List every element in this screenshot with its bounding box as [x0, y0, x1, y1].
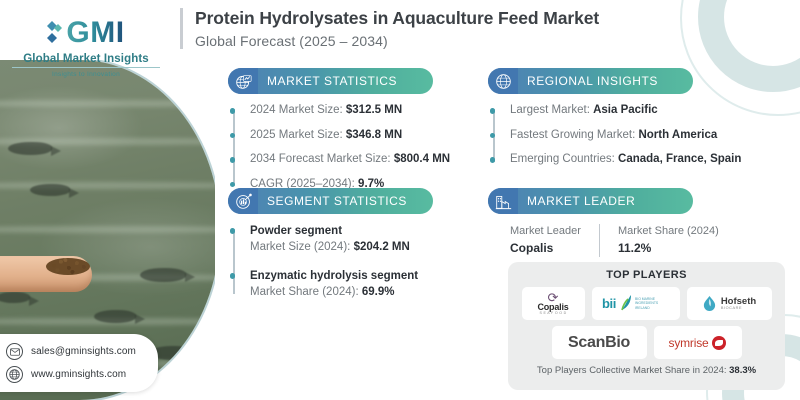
player-logo-copalis[interactable]: ⟳ Copalis S E A F O O D — [522, 287, 585, 320]
symrise-swirl-icon — [712, 336, 726, 350]
player-logo-scanbio[interactable]: ScanBio — [552, 326, 647, 359]
item-label: Emerging Countries: — [510, 153, 615, 165]
list-item: Powder segment Market Size (2024): $204.… — [250, 223, 433, 255]
droplet-leaf-icon — [702, 295, 717, 312]
fish — [0, 292, 30, 303]
envelope-icon — [6, 343, 23, 360]
footer-label: Top Players Collective Market Share in 2… — [537, 365, 727, 376]
fish — [8, 142, 52, 155]
segment-title: Enzymatic hydrolysis segment — [250, 268, 433, 284]
item-label: Market Share (2024): — [250, 286, 359, 298]
gmi-logo[interactable]: GMI Global Market Insights Insights to I… — [12, 16, 160, 78]
market-statistics-header[interactable]: MARKET STATISTICS — [228, 68, 433, 94]
item-value: North America — [638, 129, 717, 141]
item-label: Largest Market: — [510, 104, 590, 116]
logo-company-name: Global Market Insights — [12, 53, 160, 65]
contact-email: sales@gminsights.com — [31, 346, 136, 357]
market-statistics-label: MARKET STATISTICS — [258, 74, 397, 88]
logo-mark: GMI — [12, 16, 160, 50]
player-name: ScanBio — [568, 334, 630, 352]
list-item: Enzymatic hydrolysis segment Market Shar… — [250, 268, 433, 300]
factory-icon — [488, 188, 518, 214]
segment-statistics-header[interactable]: SEGMENT STATISTICS — [228, 188, 433, 214]
top-players-card: TOP PLAYERS ⟳ Copalis S E A F O O D bii … — [508, 262, 785, 390]
player-name: Hofseth — [721, 297, 756, 307]
item-value: Asia Pacific — [593, 104, 658, 116]
item-value: $800.4 MN — [394, 153, 450, 165]
player-logo-hofseth[interactable]: Hofseth BIOCARE — [687, 287, 772, 320]
segment-value: Market Size (2024): $204.2 MN — [250, 239, 433, 255]
item-value: $204.2 MN — [354, 241, 410, 253]
market-leader-panel: MARKET LEADER Market Leader Copalis Mark… — [488, 188, 737, 257]
infographic-canvas: GMI Global Market Insights Insights to I… — [0, 0, 800, 400]
target-chart-icon — [228, 188, 258, 214]
fish — [140, 268, 186, 282]
player-subtitle: BIO MARINE INGREDIENTS IRELAND — [635, 297, 669, 310]
top-players-title: TOP PLAYERS — [516, 269, 777, 281]
item-label: Fastest Growing Market: — [510, 129, 635, 141]
water-ripple — [0, 226, 215, 233]
fish — [94, 310, 136, 323]
share-value: 11.2% — [618, 240, 719, 257]
logo-text: GMI — [66, 18, 124, 48]
list-item: Largest Market: Asia Pacific — [510, 103, 741, 119]
player-subtitle: S E A F O O D — [537, 312, 568, 316]
item-label: 2025 Market Size: — [250, 129, 343, 141]
water-ripple — [0, 100, 215, 107]
segment-value: Market Share (2024): 69.9% — [250, 284, 433, 300]
leader-name: Copalis — [510, 240, 581, 257]
footer-value: 38.3% — [729, 365, 756, 376]
regional-insights-label: REGIONAL INSIGHTS — [518, 74, 658, 88]
diamond-icon — [47, 20, 63, 46]
item-label: 2034 Forecast Market Size: — [250, 153, 391, 165]
regional-insights-panel: REGIONAL INSIGHTS Largest Market: Asia P… — [488, 68, 741, 168]
top-players-row-1: ⟳ Copalis S E A F O O D bii BIO MARINE I… — [516, 287, 777, 320]
top-players-row-2: ScanBio symrise — [516, 326, 777, 359]
player-logo-bii[interactable]: bii BIO MARINE INGREDIENTS IRELAND — [592, 287, 680, 320]
title-block: Protein Hydrolysates in Aquaculture Feed… — [180, 8, 599, 49]
globe-chart-icon — [228, 68, 258, 94]
leader-column: Market Leader Copalis — [510, 224, 599, 257]
list-item: 2024 Market Size: $312.5 MN — [250, 103, 450, 119]
share-caption: Market Share (2024) — [618, 224, 719, 240]
share-column: Market Share (2024) 11.2% — [599, 224, 737, 257]
leaf-icon — [619, 294, 632, 314]
list-item: Emerging Countries: Canada, France, Spai… — [510, 152, 741, 168]
regional-insights-list: Largest Market: Asia Pacific Fastest Gro… — [488, 103, 741, 168]
leader-caption: Market Leader — [510, 224, 581, 240]
list-item: Fastest Growing Market: North America — [510, 128, 741, 144]
top-players-footer: Top Players Collective Market Share in 2… — [516, 365, 777, 376]
contact-card: sales@gminsights.com www.gminsights.com — [0, 334, 158, 392]
regional-insights-header[interactable]: REGIONAL INSIGHTS — [488, 68, 693, 94]
contact-website-row[interactable]: www.gminsights.com — [6, 366, 148, 383]
segment-title: Powder segment — [250, 223, 433, 239]
page-title: Protein Hydrolysates in Aquaculture Feed… — [195, 8, 599, 30]
contact-website: www.gminsights.com — [31, 369, 126, 380]
logo-tagline: Insights to Innovation — [12, 67, 160, 78]
item-label: 2024 Market Size: — [250, 104, 343, 116]
fish — [30, 184, 70, 196]
market-leader-label: MARKET LEADER — [518, 194, 635, 208]
list-item: 2025 Market Size: $346.8 MN — [250, 128, 450, 144]
item-label: Market Size (2024): — [250, 241, 350, 253]
player-logo-symrise[interactable]: symrise — [654, 326, 742, 359]
contact-email-row[interactable]: sales@gminsights.com — [6, 343, 148, 360]
page-subtitle: Global Forecast (2025 – 2034) — [195, 33, 599, 49]
item-value: 69.9% — [362, 286, 395, 298]
item-value: $346.8 MN — [346, 129, 402, 141]
list-item: 2034 Forecast Market Size: $800.4 MN — [250, 152, 450, 168]
feed-pellets — [46, 258, 90, 275]
segment-statistics-label: SEGMENT STATISTICS — [258, 194, 407, 208]
market-leader-detail: Market Leader Copalis Market Share (2024… — [488, 224, 737, 257]
market-statistics-panel: MARKET STATISTICS 2024 Market Size: $312… — [228, 68, 450, 192]
player-name: symrise — [669, 336, 709, 350]
market-leader-header[interactable]: MARKET LEADER — [488, 188, 693, 214]
market-statistics-list: 2024 Market Size: $312.5 MN 2025 Market … — [228, 103, 450, 192]
segment-statistics-panel: SEGMENT STATISTICS Powder segment Market… — [228, 188, 433, 300]
globe-icon — [488, 68, 518, 94]
segment-statistics-list: Powder segment Market Size (2024): $204.… — [228, 223, 433, 300]
player-name: bii — [602, 296, 616, 311]
player-subtitle: BIOCARE — [721, 306, 756, 310]
globe-icon — [6, 366, 23, 383]
item-value: Canada, France, Spain — [618, 153, 741, 165]
item-value: $312.5 MN — [346, 104, 402, 116]
